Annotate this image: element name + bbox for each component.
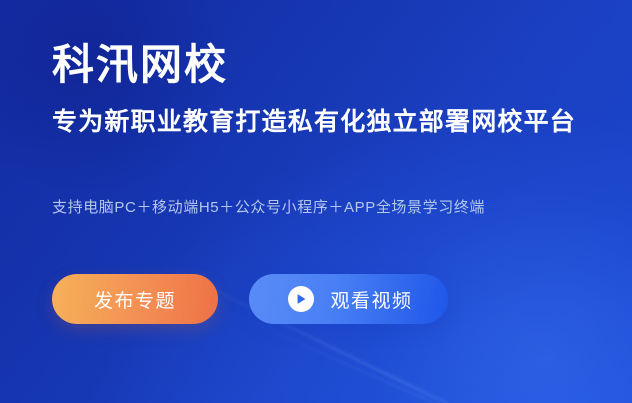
hero-content: 科汛网校 专为新职业教育打造私有化独立部署网校平台 支持电脑PC＋移动端H5＋公… bbox=[0, 0, 632, 324]
hero-subtitle: 专为新职业教育打造私有化独立部署网校平台 bbox=[52, 87, 632, 137]
page-title: 科汛网校 bbox=[52, 0, 632, 87]
play-icon bbox=[288, 286, 314, 312]
hero-action-buttons: 发布专题 观看视频 bbox=[52, 217, 632, 324]
hero-banner: 科汛网校 专为新职业教育打造私有化独立部署网校平台 支持电脑PC＋移动端H5＋公… bbox=[0, 0, 632, 403]
publish-topic-button[interactable]: 发布专题 bbox=[52, 274, 218, 324]
publish-topic-button-label: 发布专题 bbox=[94, 286, 176, 313]
hero-tagline: 支持电脑PC＋移动端H5＋公众号小程序＋APP全场景学习终端 bbox=[52, 137, 632, 217]
watch-video-button-label: 观看视频 bbox=[330, 286, 412, 313]
watch-video-button[interactable]: 观看视频 bbox=[249, 274, 448, 324]
